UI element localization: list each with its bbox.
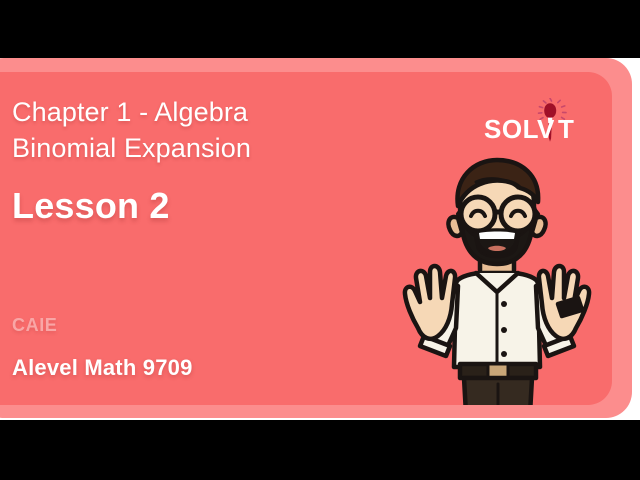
card-inner-layer: Chapter 1 - Algebra Binomial Expansion L… [0, 72, 612, 405]
avatar-shirt-button [501, 301, 507, 307]
heading-block: Chapter 1 - Algebra Binomial Expansion L… [12, 94, 372, 227]
lesson-title: Lesson 2 [12, 185, 372, 227]
avatar-glasses-lens-right [501, 197, 535, 231]
slide-canvas: Chapter 1 - Algebra Binomial Expansion L… [0, 0, 640, 480]
avatar-glasses-temple-right [535, 210, 538, 214]
solvit-logo-svg: SOLV T [484, 98, 588, 144]
logo-wordmark-left: SOLV [484, 114, 555, 144]
avatar-watch [558, 298, 582, 316]
subject-label: Alevel Math 9709 [12, 355, 193, 381]
chapter-line-2: Binomial Expansion [12, 130, 372, 166]
avatar-left-hand [405, 266, 455, 339]
avatar-teeth [479, 232, 515, 240]
avatar-shirt-button [501, 351, 507, 357]
avatar-glasses-lens-left [461, 197, 495, 231]
avatar [372, 152, 612, 405]
avatar-illustration [372, 152, 612, 405]
logo-wordmark-right: T [558, 114, 574, 144]
exam-board-label: CAIE [12, 315, 57, 336]
chapter-line-1: Chapter 1 - Algebra [12, 94, 372, 130]
solvit-logo[interactable]: SOLV T [484, 98, 588, 144]
avatar-shirt-button [501, 327, 507, 333]
avatar-glasses-temple-left [458, 210, 461, 214]
